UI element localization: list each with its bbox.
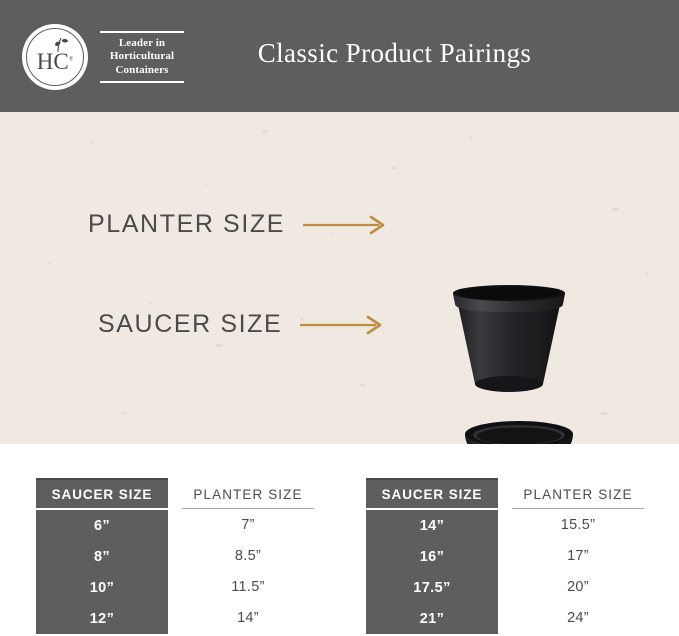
hero-background	[0, 112, 679, 444]
black-planter-pot	[449, 284, 569, 394]
column-header-saucer: SAUCER SIZE	[36, 478, 168, 508]
saucer-column-small: SAUCER SIZE 6” 8” 10” 12”	[36, 478, 168, 634]
table-cell: 14”	[366, 510, 498, 541]
column-header-planter: PLANTER SIZE	[512, 478, 644, 508]
hero-section: PLANTER SIZE	[0, 112, 679, 444]
black-saucer	[463, 420, 575, 444]
table-cell: 24”	[512, 603, 644, 634]
saucer-size-label: SAUCER SIZE	[98, 310, 282, 339]
table-cell: 8”	[36, 541, 168, 572]
table-cell: 17.5”	[366, 572, 498, 603]
page-title: Classic Product Pairings	[0, 38, 679, 69]
table-cell: 11.5”	[182, 572, 314, 603]
planter-column-large: PLANTER SIZE 15.5” 17” 20” 24”	[512, 478, 644, 634]
saucer-arrow-icon	[300, 315, 386, 335]
saucer-column-large: SAUCER SIZE 14” 16” 17.5” 21”	[366, 478, 498, 634]
table-cell: 17”	[512, 541, 644, 572]
planter-size-callout: PLANTER SIZE	[88, 210, 389, 239]
table-cell: 20”	[512, 572, 644, 603]
table-cell: 6”	[36, 510, 168, 541]
table-cell: 21”	[366, 603, 498, 634]
table-cell: 15.5”	[512, 510, 644, 541]
infographic-page: HC® Leader in Horticultural Containers C…	[0, 0, 679, 636]
table-cell: 12”	[36, 603, 168, 634]
column-header-saucer: SAUCER SIZE	[366, 478, 498, 508]
table-cell: 7”	[182, 510, 314, 541]
table-cell: 10”	[36, 572, 168, 603]
planter-column-small: PLANTER SIZE 7” 8.5” 11.5” 14”	[182, 478, 314, 634]
column-header-planter: PLANTER SIZE	[182, 478, 314, 508]
planter-size-label: PLANTER SIZE	[88, 210, 285, 239]
tagline-rule-bottom	[100, 81, 184, 82]
planter-arrow-icon	[303, 215, 389, 235]
header-bar: HC® Leader in Horticultural Containers C…	[0, 0, 679, 112]
saucer-size-callout: SAUCER SIZE	[98, 310, 386, 339]
table-cell: 16”	[366, 541, 498, 572]
table-cell: 8.5”	[182, 541, 314, 572]
table-cell: 14”	[182, 603, 314, 634]
